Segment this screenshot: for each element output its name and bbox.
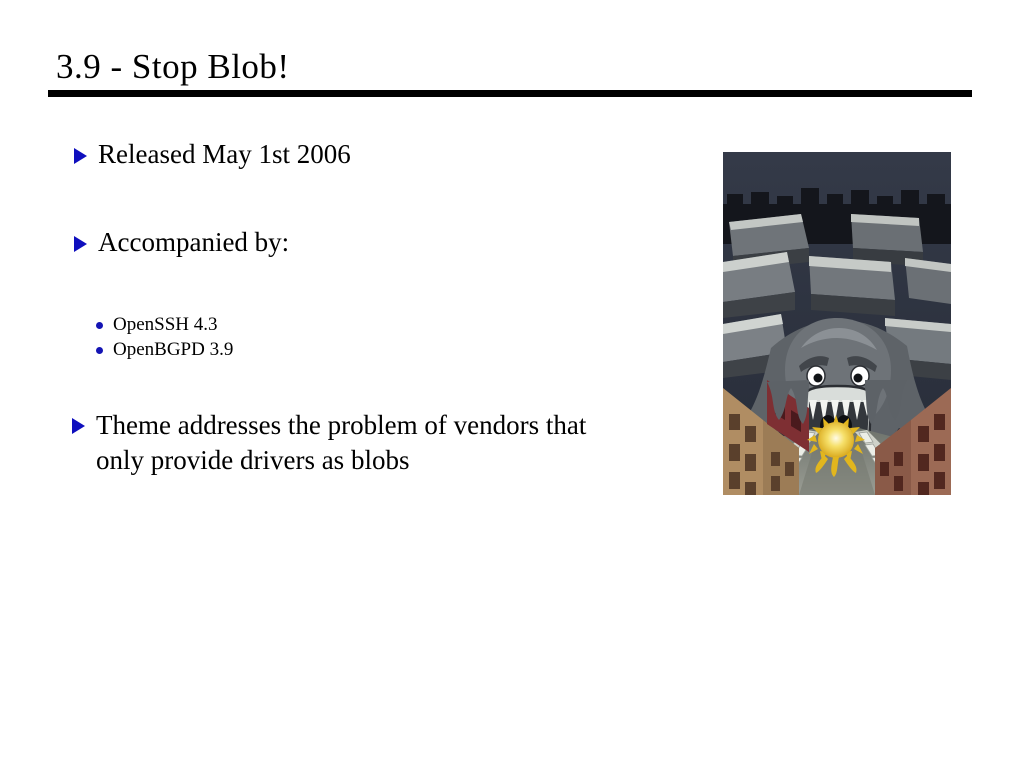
bullet-item-theme: Theme addresses the problem of vendors t… (72, 408, 732, 478)
page-title: 3.9 - Stop Blob! (56, 46, 290, 88)
stop-blob-artwork-image (723, 152, 951, 495)
bullet-item-accompanied: Accompanied by: (74, 226, 289, 259)
title-divider (48, 90, 972, 97)
bullet-item-released: Released May 1st 2006 (74, 138, 351, 171)
bullet-label: Released May 1st 2006 (98, 138, 351, 171)
triangle-bullet-icon (74, 148, 87, 164)
sub-bullet-label: OpenSSH 4.3 (113, 313, 218, 336)
triangle-bullet-icon (72, 418, 85, 434)
round-bullet-icon (96, 322, 103, 329)
sub-bullet-label: OpenBGPD 3.9 (113, 338, 233, 361)
sub-bullet-item-openbgpd: OpenBGPD 3.9 (96, 338, 233, 361)
bullet-label: Theme addresses the problem of vendors t… (96, 408, 586, 478)
bullet-label: Accompanied by: (98, 226, 289, 259)
sub-bullet-item-openssh: OpenSSH 4.3 (96, 313, 218, 336)
round-bullet-icon (96, 347, 103, 354)
triangle-bullet-icon (74, 236, 87, 252)
